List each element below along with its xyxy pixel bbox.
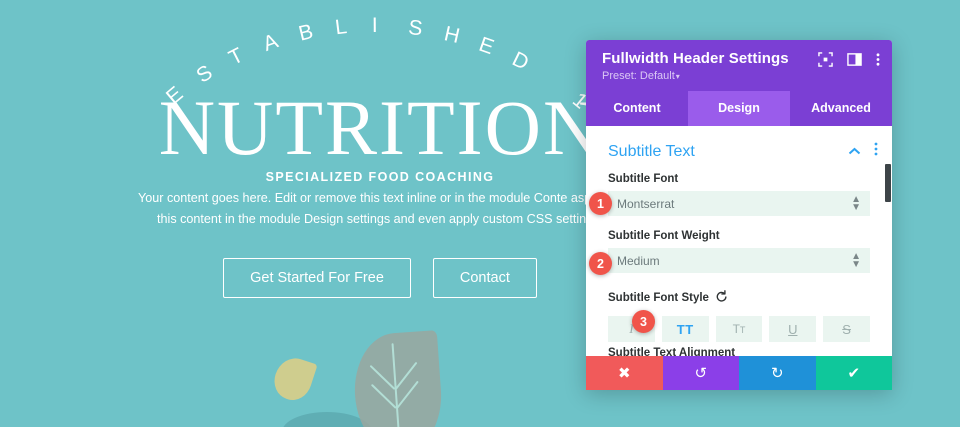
arc-letter: E xyxy=(476,33,497,60)
small-caps-icon: TT xyxy=(733,322,746,336)
step-badge-2: 2 xyxy=(589,252,612,275)
modal-header-icons xyxy=(818,52,880,72)
strikethrough-icon: S xyxy=(842,322,851,337)
modal-header: Fullwidth Header Settings Preset: Defaul… xyxy=(586,40,892,91)
subtitle-font-label: Subtitle Font xyxy=(608,173,870,185)
settings-scrollbar-track[interactable] xyxy=(884,126,892,356)
section-more-vertical-icon[interactable] xyxy=(874,142,878,161)
section-actions xyxy=(848,142,878,161)
arc-letter: D xyxy=(508,47,532,75)
layout-panel-icon[interactable] xyxy=(847,52,862,72)
modal-tabs: Content Design Advanced xyxy=(586,91,892,126)
settings-scrollbar-thumb[interactable] xyxy=(885,164,891,202)
more-vertical-icon[interactable] xyxy=(876,52,880,72)
save-button[interactable]: ✔ xyxy=(816,356,893,390)
chevron-down-icon: ▾ xyxy=(676,72,680,81)
subtitle-font-weight-value: Medium xyxy=(617,254,851,268)
contact-button[interactable]: Contact xyxy=(433,258,537,298)
font-style-underline-button[interactable]: U xyxy=(769,316,816,342)
subtitle-font-weight-label: Subtitle Font Weight xyxy=(608,230,870,242)
subtitle-font-style-label: Subtitle Font Style xyxy=(608,290,870,305)
arc-letter: S xyxy=(407,16,424,41)
tab-content[interactable]: Content xyxy=(586,91,688,126)
arc-letter: B xyxy=(296,20,315,47)
cancel-button[interactable]: ✖ xyxy=(586,356,663,390)
subtitle-font-style-field: Subtitle Font Style xyxy=(586,273,892,314)
underline-icon: U xyxy=(788,322,797,337)
subtitle-text-section-header: Subtitle Text xyxy=(586,126,892,169)
page-body-copy: Your content goes here. Edit or remove t… xyxy=(130,188,630,230)
section-title: Subtitle Text xyxy=(608,143,848,161)
preset-label: Preset: Default xyxy=(602,70,675,82)
focus-icon[interactable] xyxy=(818,52,833,72)
reset-arrow-icon[interactable] xyxy=(716,290,728,305)
small-leaf-icon xyxy=(269,353,317,404)
arc-letter: H xyxy=(442,22,462,49)
arc-letter: L xyxy=(334,15,349,40)
font-style-strikethrough-button[interactable]: S xyxy=(823,316,870,342)
step-badge-3: 3 xyxy=(632,310,655,333)
tab-design[interactable]: Design xyxy=(688,91,790,126)
redo-button[interactable]: ↻ xyxy=(739,356,816,390)
font-style-smallcaps-button[interactable]: TT xyxy=(716,316,763,342)
arc-letter: I xyxy=(372,14,378,38)
subtitle-font-weight-field: Subtitle Font Weight Medium ▲▼ xyxy=(586,216,892,273)
subtitle-text-alignment-label: Subtitle Text Alignment xyxy=(608,347,735,356)
fullwidth-header-settings-modal: Fullwidth Header Settings Preset: Defaul… xyxy=(586,40,892,390)
modal-footer: ✖ ↺ ↻ ✔ xyxy=(586,356,892,390)
subtitle-font-field: Subtitle Font Montserrat ▲▼ xyxy=(586,169,892,216)
subtitle-font-value: Montserrat xyxy=(617,197,851,211)
font-style-uppercase-button[interactable]: TT xyxy=(662,316,709,342)
chevron-up-icon[interactable] xyxy=(848,143,861,161)
arc-letter: T xyxy=(225,44,247,71)
subtitle-font-select[interactable]: Montserrat ▲▼ xyxy=(608,191,870,216)
tab-advanced[interactable]: Advanced xyxy=(790,91,892,126)
stepper-arrows-icon: ▲▼ xyxy=(851,196,861,212)
subtitle-font-weight-select[interactable]: Medium ▲▼ xyxy=(608,248,870,273)
uppercase-icon: TT xyxy=(677,322,694,337)
step-badge-1: 1 xyxy=(589,192,612,215)
undo-button[interactable]: ↺ xyxy=(663,356,740,390)
stepper-arrows-icon: ▲▼ xyxy=(851,253,861,269)
get-started-button[interactable]: Get Started For Free xyxy=(223,258,411,298)
large-leaf-icon xyxy=(351,330,445,427)
subtitle-font-style-label-text: Subtitle Font Style xyxy=(608,292,709,304)
arc-letter: A xyxy=(260,29,281,56)
